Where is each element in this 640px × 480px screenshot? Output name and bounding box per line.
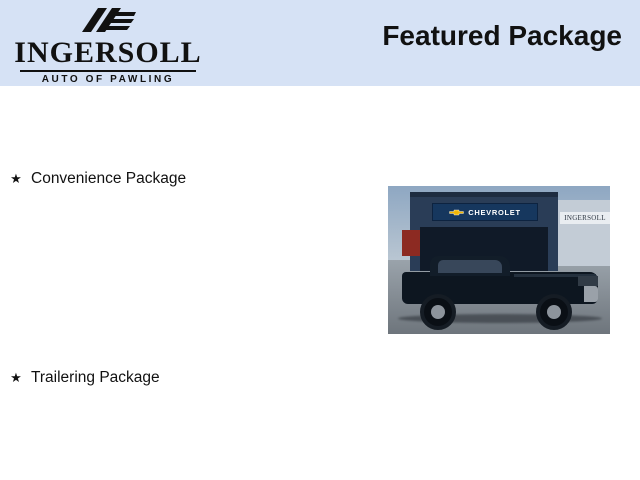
- truck-front-wheel: [420, 294, 456, 330]
- wheel-hub: [547, 305, 561, 319]
- list-item: ★ Trailering Package: [10, 369, 160, 387]
- truck-grille: [578, 276, 598, 286]
- ingersoll-building-sign: INGERSOLL: [560, 213, 610, 223]
- logo-tagline: AUTO OF PAWLING: [8, 74, 208, 85]
- logo-wordmark: INGERSOLL: [8, 38, 208, 68]
- chevrolet-sign: CHEVROLET: [432, 203, 538, 221]
- dealer-logo: INGERSOLL AUTO OF PAWLING: [8, 6, 208, 82]
- list-item: ★ Convenience Package: [10, 170, 186, 188]
- truck-windows: [438, 260, 502, 273]
- truck-rear-wheel: [536, 294, 572, 330]
- service-bay: [402, 230, 420, 256]
- star-bullet-icon: ★: [10, 172, 22, 186]
- silverado-truck: [402, 256, 598, 318]
- page-title: Featured Package: [382, 20, 622, 52]
- chevrolet-bowtie-icon: [449, 209, 464, 216]
- vehicle-photo: CHEVROLET INGERSOLL: [388, 186, 610, 334]
- logo-divider: [20, 70, 196, 72]
- chevrolet-sign-text: CHEVROLET: [468, 208, 521, 217]
- truck-bumper: [584, 286, 598, 302]
- ingersoll-chevron-mark-icon: [78, 6, 138, 36]
- slide-page: INGERSOLL AUTO OF PAWLING Featured Packa…: [0, 0, 640, 480]
- wheel-hub: [431, 305, 445, 319]
- star-bullet-icon: ★: [10, 371, 22, 385]
- feature-label: Convenience Package: [31, 170, 186, 188]
- page-header: INGERSOLL AUTO OF PAWLING Featured Packa…: [0, 0, 640, 86]
- feature-label: Trailering Package: [31, 369, 160, 387]
